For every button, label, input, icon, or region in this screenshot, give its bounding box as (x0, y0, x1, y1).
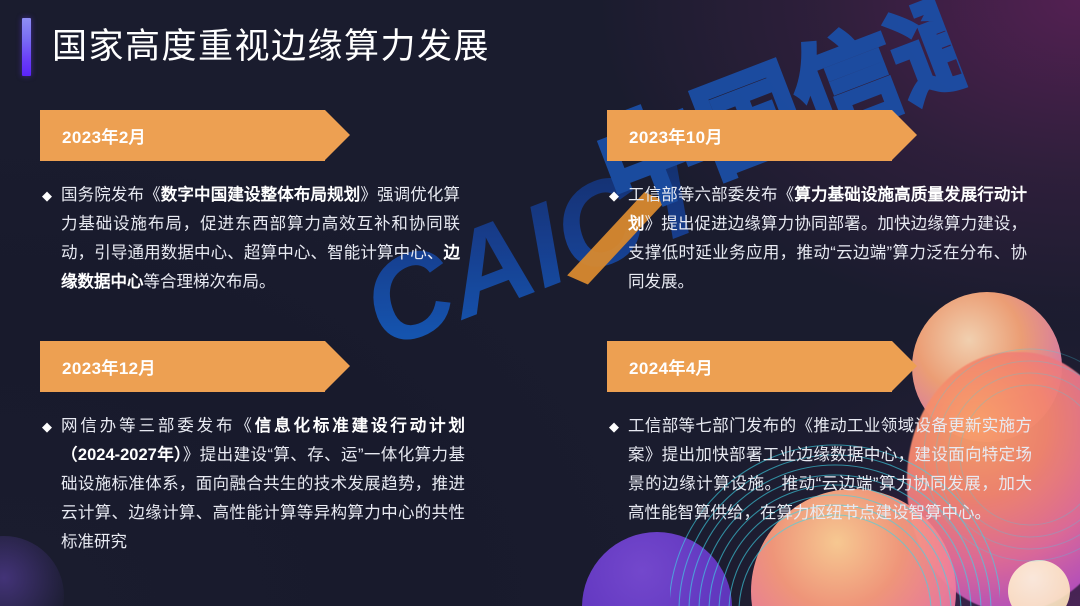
policy-timeline-grid: 2023年2月 ◆ 国务院发布《数字中国建设整体布局规划》强调优化算力基础设施布… (0, 0, 1080, 606)
policy-item-1: 2023年2月 ◆ 国务院发布《数字中国建设整体布局规划》强调优化算力基础设施布… (40, 110, 460, 297)
policy-date-label-2: 2023年10月 (629, 123, 723, 148)
policy-date-banner-3: 2023年12月 (40, 341, 325, 392)
policy-text-3: 网信办等三部委发布《信息化标准建设行动计划（2024-2027年）》提出建设“算… (61, 412, 465, 557)
policy-body-3: ◆ 网信办等三部委发布《信息化标准建设行动计划（2024-2027年）》提出建设… (40, 412, 465, 557)
policy-body-2: ◆ 工信部等六部委发布《算力基础设施高质量发展行动计划》提出促进边缘算力协同部署… (607, 181, 1027, 297)
banner-arrow-icon (325, 110, 350, 160)
policy-date-banner-1: 2023年2月 (40, 110, 325, 161)
policy-date-label-4: 2024年4月 (629, 354, 713, 379)
policy-item-4: 2024年4月 ◆ 工信部等七部门发布的《推动工业领域设备更新实施方案》提出加快… (607, 341, 1032, 528)
diamond-bullet-icon: ◆ (609, 412, 619, 528)
policy-text-2: 工信部等六部委发布《算力基础设施高质量发展行动计划》提出促进边缘算力协同部署。加… (628, 181, 1027, 297)
slide-canvas: CAICT 中国信通院 国家高度重视边缘算力发展 2023年2月 ◆ 国务院发布… (0, 0, 1080, 606)
policy-text-4: 工信部等七部门发布的《推动工业领域设备更新实施方案》提出加快部署工业边缘数据中心… (628, 412, 1032, 528)
policy-date-label-3: 2023年12月 (62, 354, 156, 379)
banner-arrow-icon (325, 341, 350, 391)
policy-date-banner-2: 2023年10月 (607, 110, 892, 161)
diamond-bullet-icon: ◆ (609, 181, 619, 297)
policy-body-4: ◆ 工信部等七部门发布的《推动工业领域设备更新实施方案》提出加快部署工业边缘数据… (607, 412, 1032, 528)
banner-arrow-icon (892, 341, 917, 391)
diamond-bullet-icon: ◆ (42, 181, 52, 297)
diamond-bullet-icon: ◆ (42, 412, 52, 557)
policy-item-2: 2023年10月 ◆ 工信部等六部委发布《算力基础设施高质量发展行动计划》提出促… (607, 110, 1027, 297)
policy-body-1: ◆ 国务院发布《数字中国建设整体布局规划》强调优化算力基础设施布局，促进东西部算… (40, 181, 460, 297)
policy-date-label-1: 2023年2月 (62, 123, 146, 148)
policy-item-3: 2023年12月 ◆ 网信办等三部委发布《信息化标准建设行动计划（2024-20… (40, 341, 465, 557)
policy-text-1: 国务院发布《数字中国建设整体布局规划》强调优化算力基础设施布局，促进东西部算力高… (61, 181, 460, 297)
banner-arrow-icon (892, 110, 917, 160)
policy-date-banner-4: 2024年4月 (607, 341, 892, 392)
